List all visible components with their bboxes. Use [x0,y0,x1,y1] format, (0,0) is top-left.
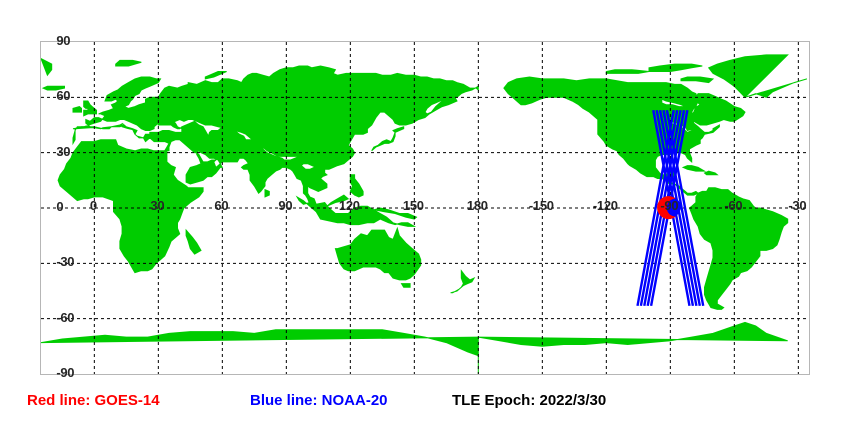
satellite-ground-track-map: 9060300-30-60-90 -300306090120150180-150… [0,0,850,425]
lat-tick--60: -60 [56,310,74,325]
lat-tick-60: 60 [56,88,70,103]
lon-tick-120: 120 [331,198,367,213]
lon-tick--120: -120 [587,198,623,213]
legend-blue-line: Blue line: NOAA-20 [250,392,388,409]
legend-caption: Red line: GOES-14 Blue line: NOAA-20 TLE… [0,392,850,418]
lat-tick--30: -30 [56,254,74,269]
lat-tick-30: 30 [56,144,70,159]
lon-tick-30: 30 [139,198,175,213]
legend-tle-epoch: TLE Epoch: 2022/3/30 [452,392,606,409]
lon-tick-60: 60 [203,198,239,213]
lat-tick--90: -90 [56,365,74,380]
lon-tick-90: 90 [267,198,303,213]
lon-tick--60: -60 [715,198,751,213]
lon-tick-150: 150 [395,198,431,213]
lon-tick--150: -150 [523,198,559,213]
lat-tick-90: 90 [56,33,70,48]
legend-red-line: Red line: GOES-14 [27,392,160,409]
lat-tick-0: 0 [56,199,63,214]
lon-tick-180: 180 [459,198,495,213]
lon-tick--90: -90 [651,198,687,213]
lon-tick-0: 0 [75,198,111,213]
lon-tick--30: -30 [779,198,815,213]
